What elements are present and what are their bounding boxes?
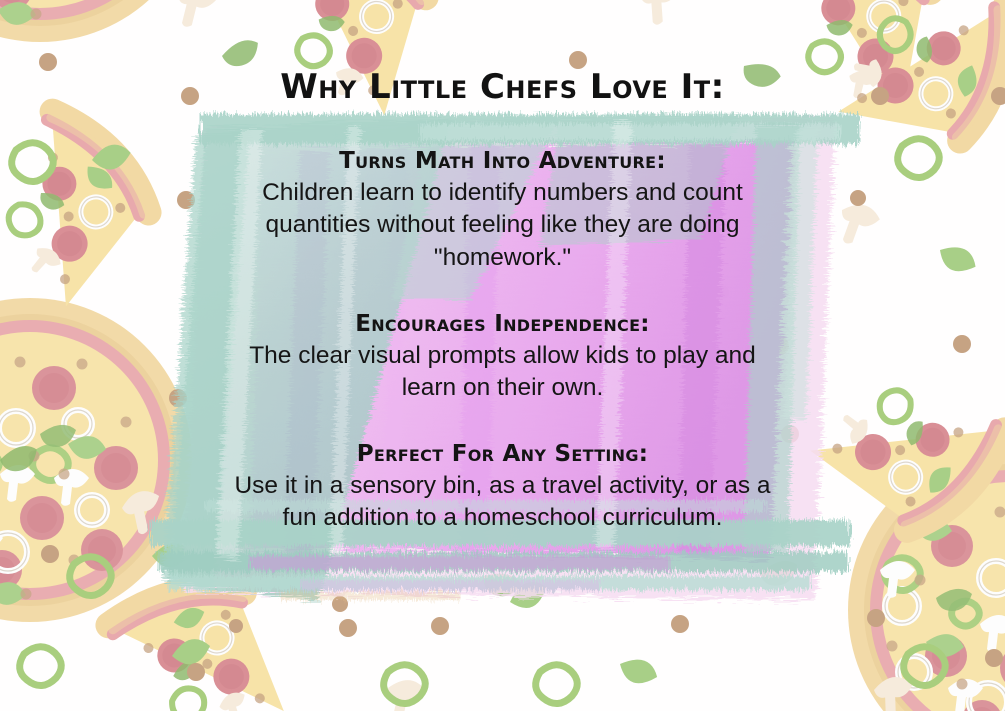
page-title: Why Little Chefs Love It: <box>0 70 1005 106</box>
poster-text-layer: Why Little Chefs Love It: Turns Math Int… <box>0 0 1005 711</box>
benefit-section-3: Perfect For Any Setting: Use it in a sen… <box>223 441 783 535</box>
benefit-body-2: The clear visual prompts allow kids to p… <box>223 340 783 405</box>
benefit-heading-2: Encourages Independence: <box>223 311 783 338</box>
benefit-body-3: Use it in a sensory bin, as a travel act… <box>223 470 783 535</box>
benefit-body-1: Children learn to identify numbers and c… <box>223 177 783 274</box>
benefit-heading-3: Perfect For Any Setting: <box>223 441 783 468</box>
benefit-heading-1: Turns Math Into Adventure: <box>223 148 783 175</box>
poster-canvas: Why Little Chefs Love It: Turns Math Int… <box>0 0 1005 711</box>
benefit-section-2: Encourages Independence: The clear visua… <box>223 311 783 405</box>
benefit-section-1: Turns Math Into Adventure: Children lear… <box>223 148 783 274</box>
